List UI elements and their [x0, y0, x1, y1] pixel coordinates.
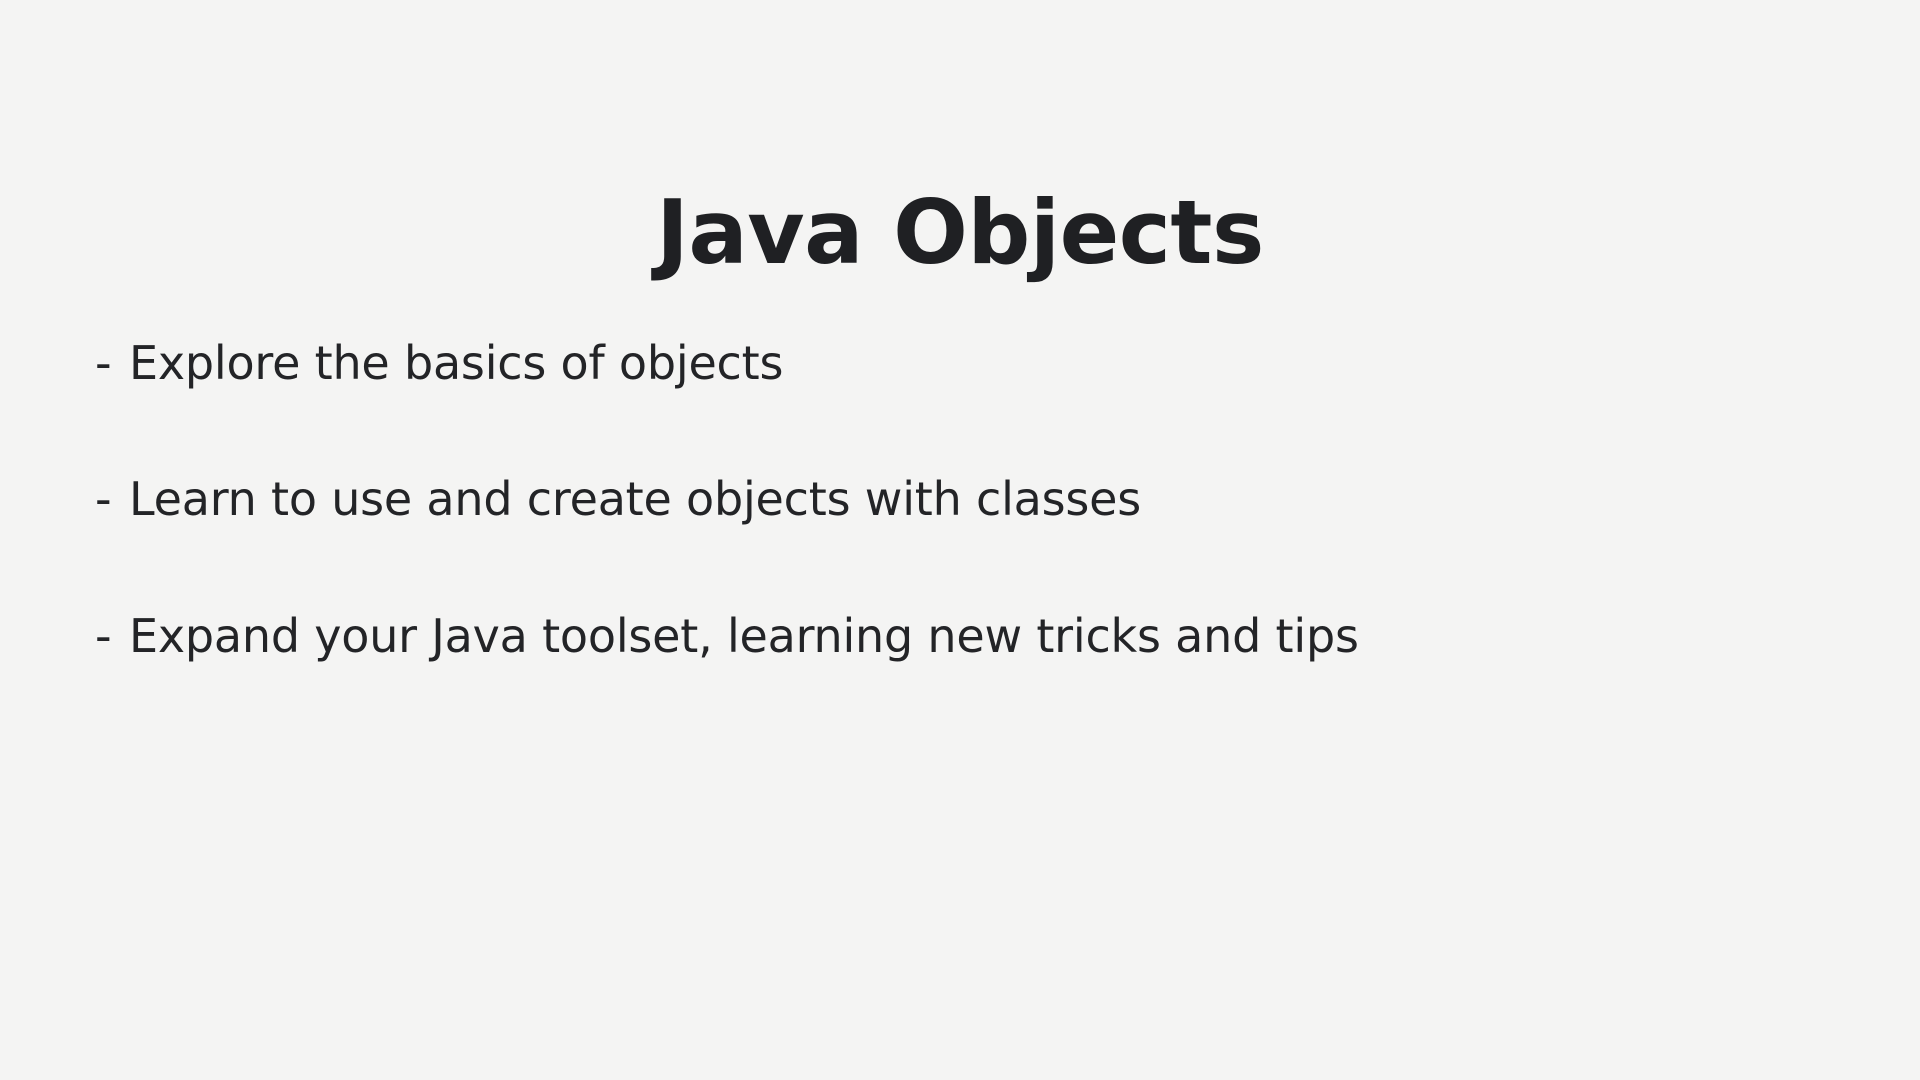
list-item-label: Expand your Java toolset, learning new t…	[129, 609, 1359, 663]
page-title: Java Objects	[0, 187, 1920, 279]
bullet-dash-icon: -	[95, 609, 129, 663]
presentation-slide: Java Objects - Explore the basics of obj…	[0, 0, 1920, 1080]
bullet-dash-icon: -	[95, 472, 129, 526]
list-item-label: Explore the basics of objects	[129, 336, 783, 390]
list-item-label: Learn to use and create objects with cla…	[129, 472, 1141, 526]
bullet-dash-icon: -	[95, 336, 129, 390]
list-item: - Expand your Java toolset, learning new…	[95, 609, 1855, 663]
bullet-list: - Explore the basics of objects - Learn …	[95, 336, 1855, 663]
list-item: - Explore the basics of objects	[95, 336, 1855, 390]
list-item: - Learn to use and create objects with c…	[95, 472, 1855, 526]
